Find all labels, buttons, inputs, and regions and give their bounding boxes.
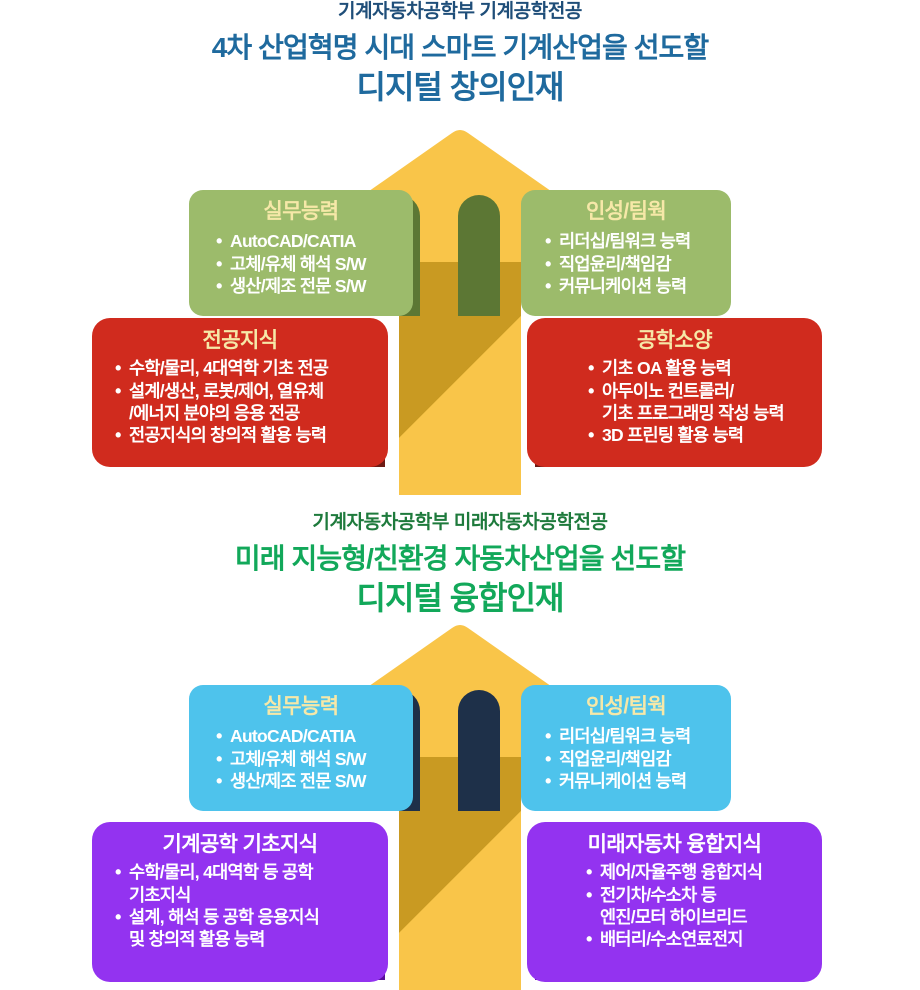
list-item-continuation: 엔진/모터 하이브리드 — [585, 906, 822, 928]
list-item: 기초 OA 활용 능력 — [587, 357, 822, 379]
list-item: 제어/자율주행 융합지식 — [585, 861, 822, 883]
list-item: 설계, 해석 등 공학 응용지식 — [114, 906, 388, 928]
card-bullet-list: 수학/물리, 4대역학 기초 전공 설계/생산, 로봇/제어, 열유체 /에너지… — [92, 357, 388, 447]
list-item-continuation: 및 창의적 활용 능력 — [114, 928, 388, 950]
list-item: 직업윤리/책임감 — [544, 253, 731, 275]
card-practical-skills-automotive: 실무능력 AutoCAD/CATIA 고체/유체 해석 S/W 생산/제조 전문… — [189, 685, 413, 811]
card-title: 전공지식 — [92, 328, 388, 353]
list-item: 설계/생산, 로봇/제어, 열유체 — [114, 380, 388, 402]
card-bullet-list: 기초 OA 활용 능력 아두이노 컨트롤러/ 기초 프로그래밍 작성 능력 3D… — [527, 357, 822, 447]
card-bullet-list: AutoCAD/CATIA 고체/유체 해석 S/W 생산/제조 전문 S/W — [189, 230, 413, 297]
card-engineering-literacy-mechanical: 공학소양 기초 OA 활용 능력 아두이노 컨트롤러/ 기초 프로그래밍 작성 … — [527, 318, 822, 467]
list-item: 고체/유체 해석 S/W — [215, 748, 413, 770]
list-item: 직업윤리/책임감 — [544, 748, 731, 770]
list-item: 배터리/수소연료전지 — [585, 928, 822, 950]
list-item: AutoCAD/CATIA — [215, 230, 413, 252]
card-title: 인성/팀웍 — [521, 694, 731, 719]
list-item-continuation: /에너지 분야의 응용 전공 — [114, 402, 388, 424]
list-item: 리더십/팀워크 능력 — [544, 230, 731, 252]
program-section-mechanical: 기계자동차공학부 기계공학전공 4차 산업혁명 시대 스마트 기계산업을 선도할… — [0, 0, 920, 495]
list-item: 생산/제조 전문 S/W — [215, 275, 413, 297]
card-character-teamwork-mechanical: 인성/팀웍 리더십/팀워크 능력 직업윤리/책임감 커뮤니케이션 능력 — [521, 190, 731, 316]
list-item: AutoCAD/CATIA — [215, 725, 413, 747]
card-major-knowledge-mechanical: 전공지식 수학/물리, 4대역학 기초 전공 설계/생산, 로봇/제어, 열유체… — [92, 318, 388, 467]
list-item: 전기차/수소차 등 — [585, 884, 822, 906]
card-title: 미래자동차 융합지식 — [527, 832, 822, 857]
list-item-continuation: 기초 프로그래밍 작성 능력 — [587, 402, 822, 424]
list-item: 아두이노 컨트롤러/ — [587, 380, 822, 402]
list-item-continuation: 기초지식 — [114, 884, 388, 906]
card-mechanical-fundamentals-automotive: 기계공학 기초지식 수학/물리, 4대역학 등 공학 기초지식 설계, 해석 등… — [92, 822, 388, 982]
card-title: 실무능력 — [189, 199, 413, 224]
list-item: 수학/물리, 4대역학 기초 전공 — [114, 357, 388, 379]
list-item: 3D 프린팅 활용 능력 — [587, 424, 822, 446]
list-item: 생산/제조 전문 S/W — [215, 770, 413, 792]
list-item: 수학/물리, 4대역학 등 공학 — [114, 861, 388, 883]
list-item: 리더십/팀워크 능력 — [544, 725, 731, 747]
program-section-automotive: 기계자동차공학부 미래자동차공학전공 미래 지능형/친환경 자동차산업을 선도할… — [0, 495, 920, 990]
card-bullet-list: 제어/자율주행 융합지식 전기차/수소차 등 엔진/모터 하이브리드 배터리/수… — [527, 861, 822, 951]
card-future-vehicle-knowledge-automotive: 미래자동차 융합지식 제어/자율주행 융합지식 전기차/수소차 등 엔진/모터 … — [527, 822, 822, 982]
card-practical-skills-mechanical: 실무능력 AutoCAD/CATIA 고체/유체 해석 S/W 생산/제조 전문… — [189, 190, 413, 316]
card-bullet-list: 리더십/팀워크 능력 직업윤리/책임감 커뮤니케이션 능력 — [521, 230, 731, 297]
card-title: 공학소양 — [527, 328, 822, 353]
list-item: 전공지식의 창의적 활용 능력 — [114, 424, 388, 446]
list-item: 커뮤니케이션 능력 — [544, 275, 731, 297]
list-item: 커뮤니케이션 능력 — [544, 770, 731, 792]
card-title: 기계공학 기초지식 — [92, 832, 388, 857]
card-bullet-list: 리더십/팀워크 능력 직업윤리/책임감 커뮤니케이션 능력 — [521, 725, 731, 792]
card-bullet-list: AutoCAD/CATIA 고체/유체 해석 S/W 생산/제조 전문 S/W — [189, 725, 413, 792]
card-title: 인성/팀웍 — [521, 199, 731, 224]
list-item: 고체/유체 해석 S/W — [215, 253, 413, 275]
card-title: 실무능력 — [189, 694, 413, 719]
card-character-teamwork-automotive: 인성/팀웍 리더십/팀워크 능력 직업윤리/책임감 커뮤니케이션 능력 — [521, 685, 731, 811]
card-bullet-list: 수학/물리, 4대역학 등 공학 기초지식 설계, 해석 등 공학 응용지식 및… — [92, 861, 388, 951]
